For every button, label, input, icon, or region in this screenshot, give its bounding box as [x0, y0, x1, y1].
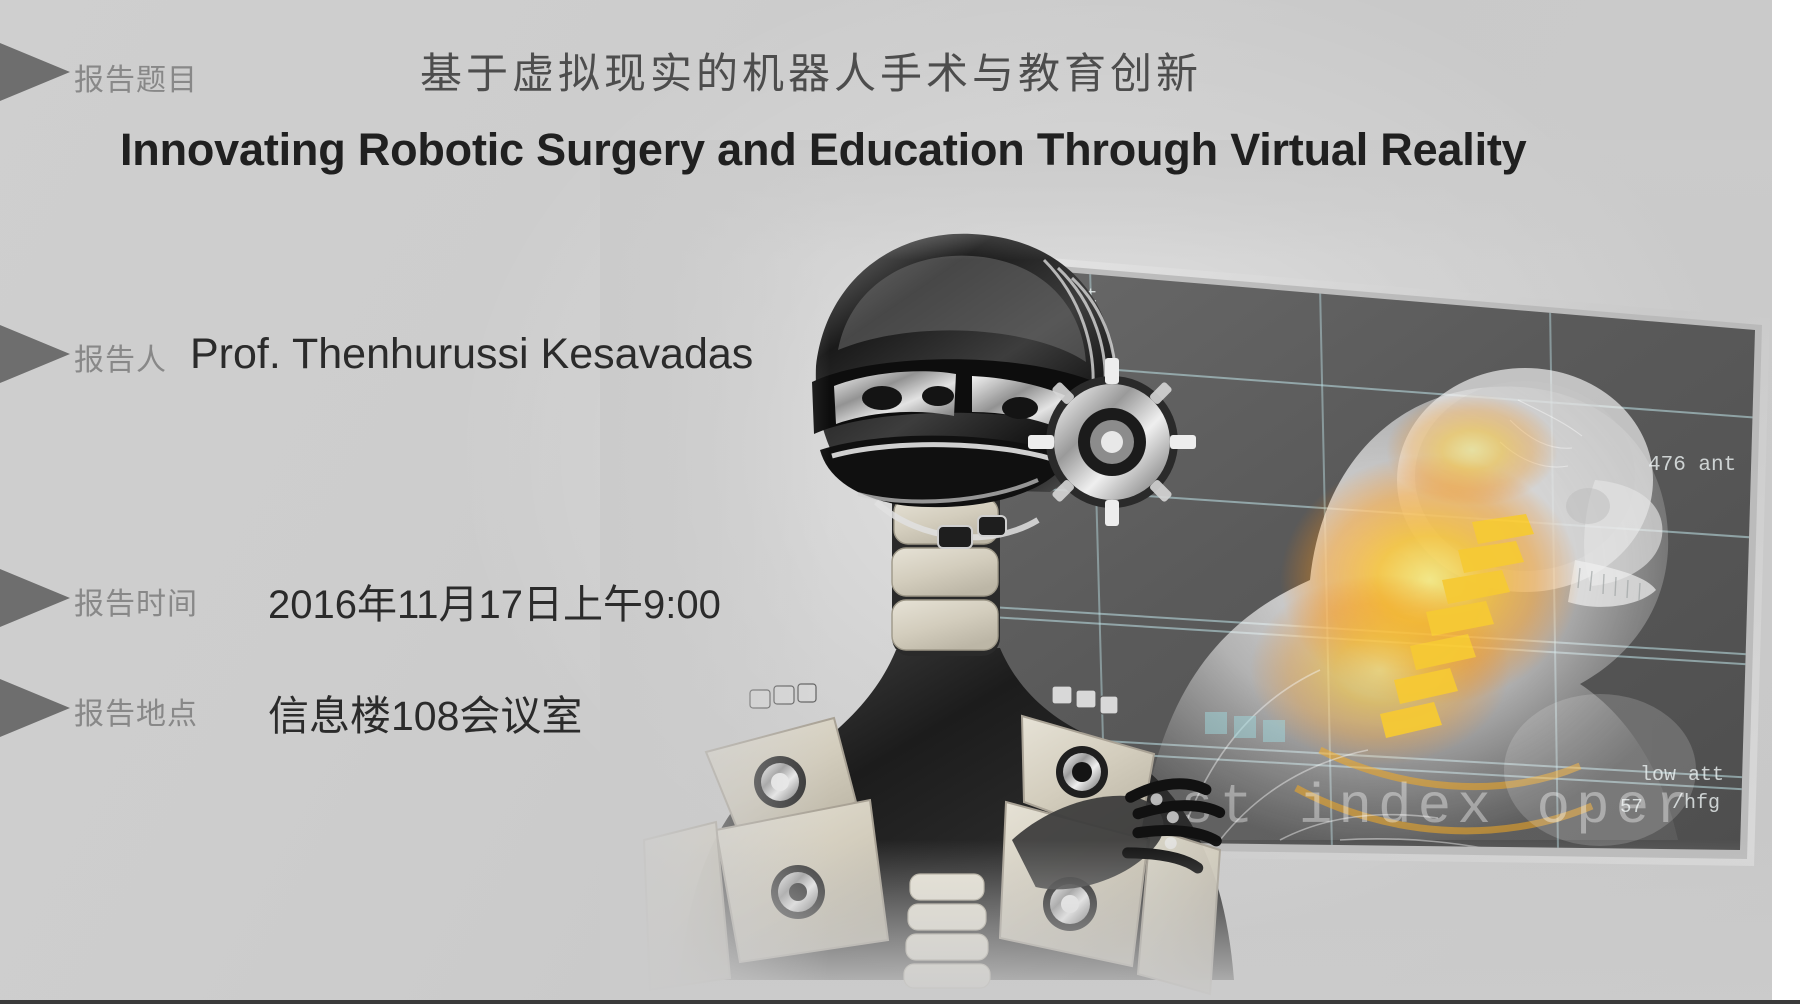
triangle-right-marker-time: [0, 554, 70, 642]
time-label: 报告时间: [74, 579, 198, 623]
svg-text:7-879/645: 7-879/645: [920, 876, 1023, 898]
spine-highlight: [1250, 394, 1592, 831]
vr-helmet: [812, 234, 1115, 548]
place-value: 信息楼108会议室: [268, 682, 582, 742]
triangle-right-marker-topic: [0, 28, 70, 116]
svg-text:low att: low att: [1640, 764, 1724, 787]
side-actuator-gear: [999, 329, 1225, 555]
svg-text:57: 57: [1620, 796, 1643, 818]
robotic-hand: [1007, 762, 1234, 920]
title-english: Innovating Robotic Surgery and Education…: [120, 124, 1620, 176]
time-value: 2016年11月17日上午9:00: [268, 572, 721, 630]
svg-text:/hfg: /hfg: [1672, 792, 1720, 815]
title-chinese: 基于虚拟现实的机器人手术与教育创新: [420, 40, 1280, 101]
vr-robot-surgery-illustration: 456t 476 ant low att /hfg 57 783 7785695…: [620, 150, 1772, 1000]
speaker-label: 报告人: [74, 335, 167, 379]
panel-watermark-text: st index oper: [1180, 775, 1695, 839]
svg-text:476 ant: 476 ant: [1648, 454, 1736, 477]
svg-text:5647: 5647: [928, 904, 974, 926]
triangle-right-marker-speaker: [0, 310, 70, 398]
presentation-slide: 456t 476 ant low att /hfg 57 783 7785695…: [0, 0, 1772, 1000]
plate-ports: [754, 746, 1108, 931]
topic-label: 报告题目: [74, 55, 198, 99]
svg-text:76590-3245: 76590-3245: [912, 848, 1026, 870]
svg-text:st index oper: st index oper: [1180, 775, 1695, 839]
place-label: 报告地点: [74, 689, 198, 733]
triangle-right-marker-place: [0, 664, 70, 752]
shoulder-connectors: [750, 684, 1118, 714]
armor-plates: [644, 716, 1220, 994]
xray-anatomy: [1140, 368, 1696, 858]
slide-bottom-rule: [0, 1000, 1800, 1004]
artwork-feather-overlay: [600, 140, 1772, 1000]
visor-goggles: [812, 359, 1092, 507]
svg-text:456t: 456t: [1050, 286, 1098, 309]
panel-overlay-text: 456t 476 ant low att /hfg 57 783 7785695…: [912, 286, 1736, 926]
svg-text:783 778569543: 783 778569543: [916, 824, 1064, 846]
skull: [1397, 368, 1662, 607]
speaker-name: Prof. Thenhurussi Kesavadas: [190, 330, 753, 379]
medical-display-panel: 456t 476 ant low att /hfg 57 783 7785695…: [906, 246, 1770, 926]
neck-segments: [892, 446, 1000, 988]
